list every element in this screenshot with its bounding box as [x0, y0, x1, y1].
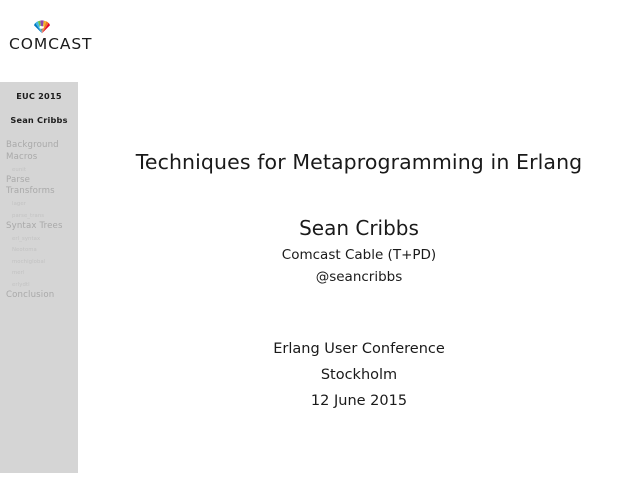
toc-group-parse-transforms: Parse Transforms lager parse_trans	[6, 175, 78, 221]
toc-group-macros: Macros eunit	[6, 152, 78, 175]
sidebar-author-label: Sean Cribbs	[0, 115, 78, 125]
toc-group-background: Background	[6, 140, 78, 152]
toc-group-conclusion: Conclusion	[6, 290, 78, 302]
venue-city: Stockholm	[78, 362, 640, 388]
sidebar-item-macros[interactable]: Macros	[6, 152, 78, 164]
venue-date: 12 June 2015	[78, 388, 640, 414]
slide-content: Techniques for Metaprogramming in Erlang…	[78, 0, 640, 480]
nbc-peacock-icon	[30, 17, 54, 34]
sidebar-subitem-erlydtl[interactable]: erlydtl	[6, 281, 78, 290]
sidebar-subitem-mochiglobal[interactable]: mochiglobal	[6, 258, 78, 267]
sidebar-conference-label: EUC 2015	[0, 91, 78, 101]
sidebar-subitem-parse-trans[interactable]: parse_trans	[6, 212, 78, 221]
sidebar-subitem-erl-syntax[interactable]: erl_syntax	[6, 235, 78, 244]
sidebar-item-parse-transforms[interactable]: Parse Transforms	[6, 175, 78, 198]
sidebar-subitem-eunit[interactable]: eunit	[6, 166, 78, 175]
toc-group-syntax-trees: Syntax Trees erl_syntax Neotoma mochiglo…	[6, 221, 78, 290]
sidebar-item-conclusion[interactable]: Conclusion	[6, 290, 78, 302]
sidebar: EUC 2015 Sean Cribbs Background Macros e…	[0, 82, 78, 473]
author-name: Sean Cribbs	[78, 215, 640, 241]
sidebar-subitem-lager[interactable]: lager	[6, 200, 78, 209]
sidebar-item-background[interactable]: Background	[6, 140, 78, 152]
sidebar-subitem-merl[interactable]: merl	[6, 269, 78, 278]
page-title: Techniques for Metaprogramming in Erlang	[78, 150, 640, 174]
venue-name: Erlang User Conference	[78, 336, 640, 362]
table-of-contents: Background Macros eunit Parse Transforms…	[0, 140, 78, 301]
author-handle: @seancribbs	[78, 266, 640, 288]
sidebar-subitem-neotoma[interactable]: Neotoma	[6, 246, 78, 255]
author-affiliation: Comcast Cable (T+PD)	[78, 244, 640, 266]
venue-block: Erlang User Conference Stockholm 12 June…	[78, 336, 640, 414]
author-block: Sean Cribbs Comcast Cable (T+PD) @seancr…	[78, 215, 640, 288]
sidebar-item-syntax-trees[interactable]: Syntax Trees	[6, 221, 78, 233]
